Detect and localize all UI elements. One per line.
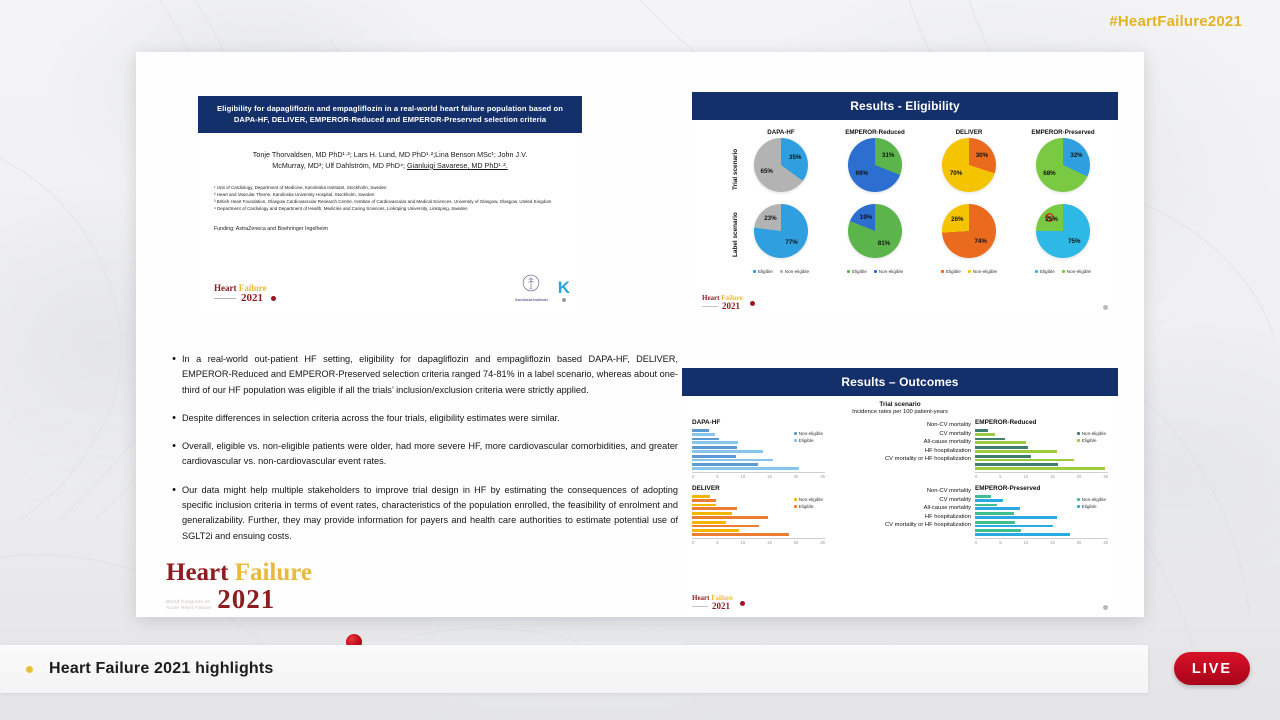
bar <box>692 463 758 466</box>
legend-cell: EligibleNon-eligible <box>828 269 922 274</box>
bar <box>692 455 736 458</box>
bar <box>975 446 1028 449</box>
bar-group <box>975 512 1108 519</box>
bar <box>975 433 995 436</box>
poster-title: Eligibility for dapagliflozin and empagl… <box>198 96 582 133</box>
slide-hf-logo: Heart Failure World Congress on Acute He… <box>166 560 312 613</box>
bullet-text: Overall, eligible vs. non-eligible patie… <box>182 439 678 470</box>
hf-logo-heart: Heart <box>692 594 710 602</box>
chart-legend: Non-eligibleEligible <box>794 431 823 445</box>
axis-tick-label: 25 <box>1103 540 1108 545</box>
pie-slice-label: 74% <box>973 238 989 245</box>
bar <box>975 463 1058 466</box>
outcomes-title: Results – Outcomes <box>682 368 1118 396</box>
outcome-category-label: CV mortality <box>829 496 971 505</box>
pie-slice-label: 35% <box>787 154 803 161</box>
hf-logo-heart: Heart <box>166 559 228 586</box>
axis-tick-label: 5 <box>716 474 718 479</box>
outcome-category-label: All-cause mortality <box>829 504 971 513</box>
page-dot-icon <box>1103 305 1108 310</box>
session-title: Heart Failure 2021 highlights <box>49 660 274 678</box>
axis-tick-label: 0 <box>975 540 977 545</box>
record-dot-icon <box>271 296 276 301</box>
bullet-text: In a real-world out-patient HF setting, … <box>182 352 678 398</box>
axis-tick-label: 5 <box>999 474 1001 479</box>
bar <box>975 516 1057 519</box>
bar-group <box>692 463 825 470</box>
bar <box>692 441 738 444</box>
list-item: • In a real-world out-patient HF setting… <box>166 352 678 398</box>
bullet-icon: • <box>166 352 182 398</box>
legend-swatch-icon <box>1035 270 1038 273</box>
axis-tick-label: 10 <box>1024 474 1029 479</box>
pie-cell: 32%68% <box>1016 138 1110 200</box>
progress-bar-track[interactable] <box>352 642 682 644</box>
affiliation-2: ² Heart and Vascular Theme, Karolinska U… <box>214 192 568 199</box>
affiliation-3: ³ British Heart Foundation, Glasgow Card… <box>214 199 568 206</box>
k-logo-dot-icon <box>562 298 566 302</box>
axis-tick-label: 20 <box>794 474 799 479</box>
bar <box>975 507 1020 510</box>
legend-item: Non-eligible <box>1062 269 1091 274</box>
legend-label: Eligible <box>799 438 814 443</box>
bar <box>692 533 789 536</box>
results-eligibility-card: Results - Eligibility DAPA-HF EMPEROR-Re… <box>692 92 1118 316</box>
pie-slice-label: 23% <box>762 215 778 222</box>
bar <box>692 504 716 507</box>
bar-group <box>975 463 1108 470</box>
pie-chart-deliver-label: 74%26% <box>942 204 996 258</box>
bar <box>975 521 1015 524</box>
legend-swatch-icon <box>1062 270 1065 273</box>
eligibility-trial-headers: DAPA-HF EMPEROR-Reduced DELIVER EMPEROR-… <box>734 129 1110 136</box>
k-logo: K <box>558 280 570 302</box>
bar <box>692 467 799 470</box>
pie-chart-deliver-trial: 30%70% <box>942 138 996 192</box>
hf-logo-year: 2021 <box>712 602 730 611</box>
axis-tick-label: 5 <box>999 540 1001 545</box>
funding-statement: Funding: AstraZeneca and Boehringer Inge… <box>198 212 582 232</box>
bar-group <box>975 529 1108 536</box>
hf-logo-heart: Heart <box>214 283 237 293</box>
pie-slice-label: 68% <box>1041 170 1057 177</box>
bar <box>692 525 759 528</box>
legend-swatch-icon <box>874 270 877 273</box>
pie-chart-emperor-preserved-label: 75%25% <box>1036 204 1090 258</box>
pie-cell: 30%70% <box>922 138 1016 200</box>
bar <box>975 450 1057 453</box>
axis-tick-label: 20 <box>1077 540 1082 545</box>
bar-chart-emperor-preserved: 0510152025Non-eligibleEligible <box>975 495 1108 545</box>
bar <box>975 499 1003 502</box>
legend-label: Non-eligible <box>799 431 823 436</box>
legend-label: Eligible <box>1082 504 1097 509</box>
legend-item: Non-eligible <box>968 269 997 274</box>
outcomes-body: Trial scenario Incidence rates per 100 p… <box>682 396 1118 545</box>
pie-slice-label: 19% <box>858 214 874 221</box>
card-footer-logo: Heart Failure 2021 <box>692 595 745 611</box>
trial-header: EMPEROR-Reduced <box>828 129 922 136</box>
session-dot-icon <box>26 666 33 673</box>
axis-tick-label: 15 <box>767 540 772 545</box>
list-item: • Despite differences in selection crite… <box>166 411 678 426</box>
outcome-category-label: CV mortality or HF hospitalization <box>829 455 971 464</box>
outcome-category-labels: Non-CV mortalityCV mortalityAll-cause mo… <box>829 419 971 479</box>
legend-swatch-icon <box>794 505 797 508</box>
bar <box>692 507 737 510</box>
outcome-category-labels: Non-CV mortalityCV mortalityAll-cause mo… <box>829 485 971 545</box>
pie-cell: 74%26% <box>922 204 1016 266</box>
bar-group <box>692 455 825 462</box>
pie-cell: 81%19% <box>828 204 922 266</box>
legend-item: Eligible <box>1077 504 1106 509</box>
axis-tick-label: 25 <box>1103 474 1108 479</box>
outcome-category-label: HF hospitalization <box>829 513 971 522</box>
list-item: • Our data might help multiple stakehold… <box>166 483 678 544</box>
axis-tick-label: 5 <box>716 540 718 545</box>
axis-tick-label: 0 <box>692 474 694 479</box>
pie-slice-label: 32% <box>1069 152 1085 159</box>
x-axis: 0510152025 <box>692 538 825 545</box>
legend-label: Non-eligible <box>1067 269 1091 274</box>
axis-tick-label: 10 <box>741 540 746 545</box>
x-axis: 0510152025 <box>692 472 825 479</box>
axis-tick-label: 0 <box>975 474 977 479</box>
outcome-panel-emperor-preserved: EMPEROR-Preserved 0510152025Non-eligible… <box>975 485 1108 545</box>
pie-slice-label: 31% <box>880 152 896 159</box>
hf-logo-wordmark: Heart Failure <box>166 560 312 585</box>
axis-tick-label: 10 <box>1024 540 1029 545</box>
legend-swatch-icon <box>794 432 797 435</box>
authors-line-2-plain: McMurray, MD³; Ulf Dahlström, MD PhD⁴; <box>272 161 407 170</box>
legend-swatch-icon <box>1077 439 1080 442</box>
legend-label: Non-eligible <box>879 269 903 274</box>
legend-label: Eligible <box>852 269 867 274</box>
legend-item: Non-eligible <box>1077 431 1106 436</box>
legend-label: Eligible <box>946 269 961 274</box>
hf-logo-subtitle-2: Acute Heart Failure <box>166 605 211 611</box>
karolinska-seal-icon <box>522 274 540 292</box>
label-scenario-row: Label scenario 77%23% 81%19% 74%26% 75%2… <box>734 204 1110 266</box>
pie-chart-emperor-preserved-trial: 32%68% <box>1036 138 1090 192</box>
eligibility-legends: EligibleNon-eligibleEligibleNon-eligible… <box>734 269 1110 274</box>
bar <box>975 495 991 498</box>
panel-title: EMPEROR-Preserved <box>975 485 1108 492</box>
record-dot-icon <box>750 301 755 306</box>
bar-chart-deliver: 0510152025Non-eligibleEligible <box>692 495 825 545</box>
legend-item: Eligible <box>794 504 823 509</box>
poster-affiliations: ¹ Unit of Cardiology, Department of Medi… <box>198 171 582 213</box>
bar <box>975 455 1031 458</box>
hf-logo-heart: Heart <box>702 294 720 302</box>
legend-swatch-icon <box>1077 432 1080 435</box>
axis-tick-label: 15 <box>1050 474 1055 479</box>
pie-slice-label: 65% <box>759 168 775 175</box>
legend-item: Non-eligible <box>794 497 823 502</box>
bar <box>692 495 710 498</box>
legend-swatch-icon <box>1077 498 1080 501</box>
panel-title: EMPEROR-Reduced <box>975 419 1108 426</box>
outcomes-bottom-grid: DELIVER 0510152025Non-eligibleEligible N… <box>692 485 1108 545</box>
trial-header: DAPA-HF <box>734 129 828 136</box>
bar <box>692 446 737 449</box>
live-badge[interactable]: LIVE <box>1174 652 1250 685</box>
eligibility-body: DAPA-HF EMPEROR-Reduced DELIVER EMPEROR-… <box>692 120 1118 274</box>
pie-chart-dapa-hf-label: 77%23% <box>754 204 808 258</box>
chart-legend: Non-eligibleEligible <box>794 497 823 511</box>
axis-tick-label: 15 <box>767 474 772 479</box>
bar-group <box>692 521 825 528</box>
bar-group <box>975 455 1108 462</box>
bar-chart-emperor-reduced: 0510152025Non-eligibleEligible <box>975 429 1108 479</box>
legend-swatch-icon <box>794 498 797 501</box>
player-bottom-bar: Heart Failure 2021 highlights <box>0 645 1148 693</box>
bar <box>692 433 715 436</box>
legend-swatch-icon <box>941 270 944 273</box>
x-axis: 0510152025 <box>975 538 1108 545</box>
legend-label: Non-eligible <box>973 269 997 274</box>
chart-legend: Non-eligibleEligible <box>1077 431 1106 445</box>
poster-hf-logo: Heart Failure 2021 <box>214 284 276 304</box>
record-dot-icon <box>740 601 745 606</box>
bullet-icon: • <box>166 411 182 426</box>
conclusions-list: • In a real-world out-patient HF setting… <box>166 352 678 557</box>
trial-header: DELIVER <box>922 129 1016 136</box>
karolinska-logo: Karolinska Institutet <box>515 274 548 302</box>
bar <box>975 459 1074 462</box>
trial-header: EMPEROR-Preserved <box>1016 129 1110 136</box>
bar <box>975 504 997 507</box>
outcome-category-label: Non-CV mortality <box>829 421 971 430</box>
pie-slice-label: 25% <box>1044 216 1060 223</box>
page-dot-icon <box>1103 605 1108 610</box>
eligibility-title: Results - Eligibility <box>692 92 1118 120</box>
pie-slice-label: 30% <box>974 152 990 159</box>
legend-item: Non-eligible <box>1077 497 1106 502</box>
hf-logo-year: 2021 <box>241 293 263 304</box>
bar <box>692 459 773 462</box>
list-item: • Overall, eligible vs. non-eligible pat… <box>166 439 678 470</box>
hf-logo-year: 2021 <box>217 586 275 613</box>
event-hashtag: #HeartFailure2021 <box>1109 13 1242 30</box>
outcome-category-label: CV mortality or HF hospitalization <box>829 521 971 530</box>
outcomes-header: Trial scenario Incidence rates per 100 p… <box>692 401 1108 415</box>
legend-item: Eligible <box>1077 438 1106 443</box>
x-axis: 0510152025 <box>975 472 1108 479</box>
legend-cell: EligibleNon-eligible <box>734 269 828 274</box>
outcome-category-label: Non-CV mortality <box>829 487 971 496</box>
affiliation-1: ¹ Unit of Cardiology, Department of Medi… <box>214 185 568 192</box>
axis-tick-label: 25 <box>820 474 825 479</box>
axis-tick-label: 20 <box>794 540 799 545</box>
legend-label: Non-eligible <box>1082 431 1106 436</box>
outcome-panel-dapa-hf: DAPA-HF 0510152025Non-eligibleEligible <box>692 419 825 479</box>
hf-logo-year: 2021 <box>722 302 740 311</box>
legend-label: Eligible <box>799 504 814 509</box>
bar-group <box>975 446 1108 453</box>
poster-authors: Tonje Thorvaldsen, MD PhD¹·²; Lars H. Lu… <box>198 133 582 171</box>
bar-chart-dapa-hf: 0510152025Non-eligibleEligible <box>692 429 825 479</box>
legend-cell: EligibleNon-eligible <box>1016 269 1110 274</box>
legend-label: Non-eligible <box>799 497 823 502</box>
bar <box>975 533 1070 536</box>
legend-label: Eligible <box>1082 438 1097 443</box>
bullet-icon: • <box>166 483 182 544</box>
bar <box>975 529 1021 532</box>
authors-line-2: McMurray, MD³; Ulf Dahlström, MD PhD⁴; G… <box>212 160 568 171</box>
institution-logos: Karolinska Institutet K <box>515 274 570 302</box>
pie-slice-label: 77% <box>784 239 800 246</box>
bullet-text: Despite differences in selection criteri… <box>182 411 678 426</box>
bar <box>692 438 719 441</box>
pie-slice-label: 75% <box>1066 238 1082 245</box>
bar <box>692 499 716 502</box>
outcomes-scenario-label: Trial scenario <box>692 401 1108 408</box>
pie-chart-dapa-hf-trial: 35%65% <box>754 138 808 192</box>
axis-tick-label: 10 <box>741 474 746 479</box>
legend-item: Eligible <box>847 269 867 274</box>
legend-swatch-icon <box>968 270 971 273</box>
legend-label: Non-eligible <box>1082 497 1106 502</box>
legend-item: Non-eligible <box>794 431 823 436</box>
bar-group <box>975 521 1108 528</box>
bar <box>975 429 988 432</box>
legend-item: Non-eligible <box>874 269 903 274</box>
axis-tick-label: 15 <box>1050 540 1055 545</box>
pie-cell: 31%69% <box>828 138 922 200</box>
card-footer-logo: Heart Failure 2021 <box>702 295 755 311</box>
legend-label: Eligible <box>1040 269 1055 274</box>
legend-item: Eligible <box>753 269 773 274</box>
karolinska-label: Karolinska Institutet <box>515 298 548 302</box>
outcome-category-label: CV mortality <box>829 430 971 439</box>
outcome-panel-emperor-reduced: EMPEROR-Reduced 0510152025Non-eligibleEl… <box>975 419 1108 479</box>
bar <box>692 529 739 532</box>
pie-cell: 75%25% <box>1016 204 1110 266</box>
pie-chart-emperor-reduced-trial: 31%69% <box>848 138 902 192</box>
bar <box>975 438 1005 441</box>
bar <box>975 512 1014 515</box>
legend-item: Non-eligible <box>780 269 809 274</box>
pie-slice-label: 70% <box>948 170 964 177</box>
trial-scenario-row: Trial scenario 35%65% 31%69% 30%70% 32%6… <box>734 138 1110 200</box>
outcome-category-label: All-cause mortality <box>829 438 971 447</box>
outcomes-units-label: Incidence rates per 100 patient-years <box>692 409 1108 415</box>
chart-legend: Non-eligibleEligible <box>1077 497 1106 511</box>
bullet-icon: • <box>166 439 182 470</box>
presenting-author: Gianluigi Savarese, MD PhD¹·². <box>407 161 508 170</box>
legend-item: Eligible <box>1035 269 1055 274</box>
pie-slice-label: 81% <box>876 240 892 247</box>
poster-title-card: Eligibility for dapagliflozin and empagl… <box>198 96 582 312</box>
legend-item: Eligible <box>794 438 823 443</box>
bar <box>692 450 763 453</box>
legend-swatch-icon <box>780 270 783 273</box>
legend-label: Eligible <box>758 269 773 274</box>
bar-group <box>692 446 825 453</box>
outcome-panel-deliver: DELIVER 0510152025Non-eligibleEligible <box>692 485 825 545</box>
bullet-text: Our data might help multiple stakeholder… <box>182 483 678 544</box>
presentation-slide[interactable]: Eligibility for dapagliflozin and empagl… <box>136 52 1144 617</box>
axis-tick-label: 0 <box>692 540 694 545</box>
bar <box>692 512 732 515</box>
pie-slice-label: 26% <box>949 216 965 223</box>
affiliation-4: ⁴ Department of Cardiology and Departmen… <box>214 206 568 213</box>
bar-group <box>692 529 825 536</box>
bar <box>692 429 709 432</box>
outcomes-top-grid: DAPA-HF 0510152025Non-eligibleEligible N… <box>692 419 1108 479</box>
axis-tick-label: 25 <box>820 540 825 545</box>
legend-swatch-icon <box>847 270 850 273</box>
legend-label: Non-eligible <box>785 269 809 274</box>
panel-title: DELIVER <box>692 485 825 492</box>
bar <box>692 516 768 519</box>
legend-swatch-icon <box>794 439 797 442</box>
pie-slice-label: 69% <box>854 170 870 177</box>
legend-item: Eligible <box>941 269 961 274</box>
hf-logo-failure: Failure <box>235 559 312 586</box>
legend-cell: EligibleNon-eligible <box>922 269 1016 274</box>
results-outcomes-card: Results – Outcomes Trial scenario Incide… <box>682 368 1118 616</box>
legend-swatch-icon <box>753 270 756 273</box>
bar <box>975 525 1053 528</box>
authors-line-1: Tonje Thorvaldsen, MD PhD¹·²; Lars H. Lu… <box>212 149 568 160</box>
bar-group <box>692 512 825 519</box>
k-mark-label: K <box>558 280 570 295</box>
pie-chart-emperor-reduced-label: 81%19% <box>848 204 902 258</box>
panel-title: DAPA-HF <box>692 419 825 426</box>
bar <box>975 441 1026 444</box>
bar <box>692 521 726 524</box>
bar <box>975 467 1105 470</box>
legend-swatch-icon <box>1077 505 1080 508</box>
outcome-category-label: HF hospitalization <box>829 447 971 456</box>
axis-tick-label: 20 <box>1077 474 1082 479</box>
